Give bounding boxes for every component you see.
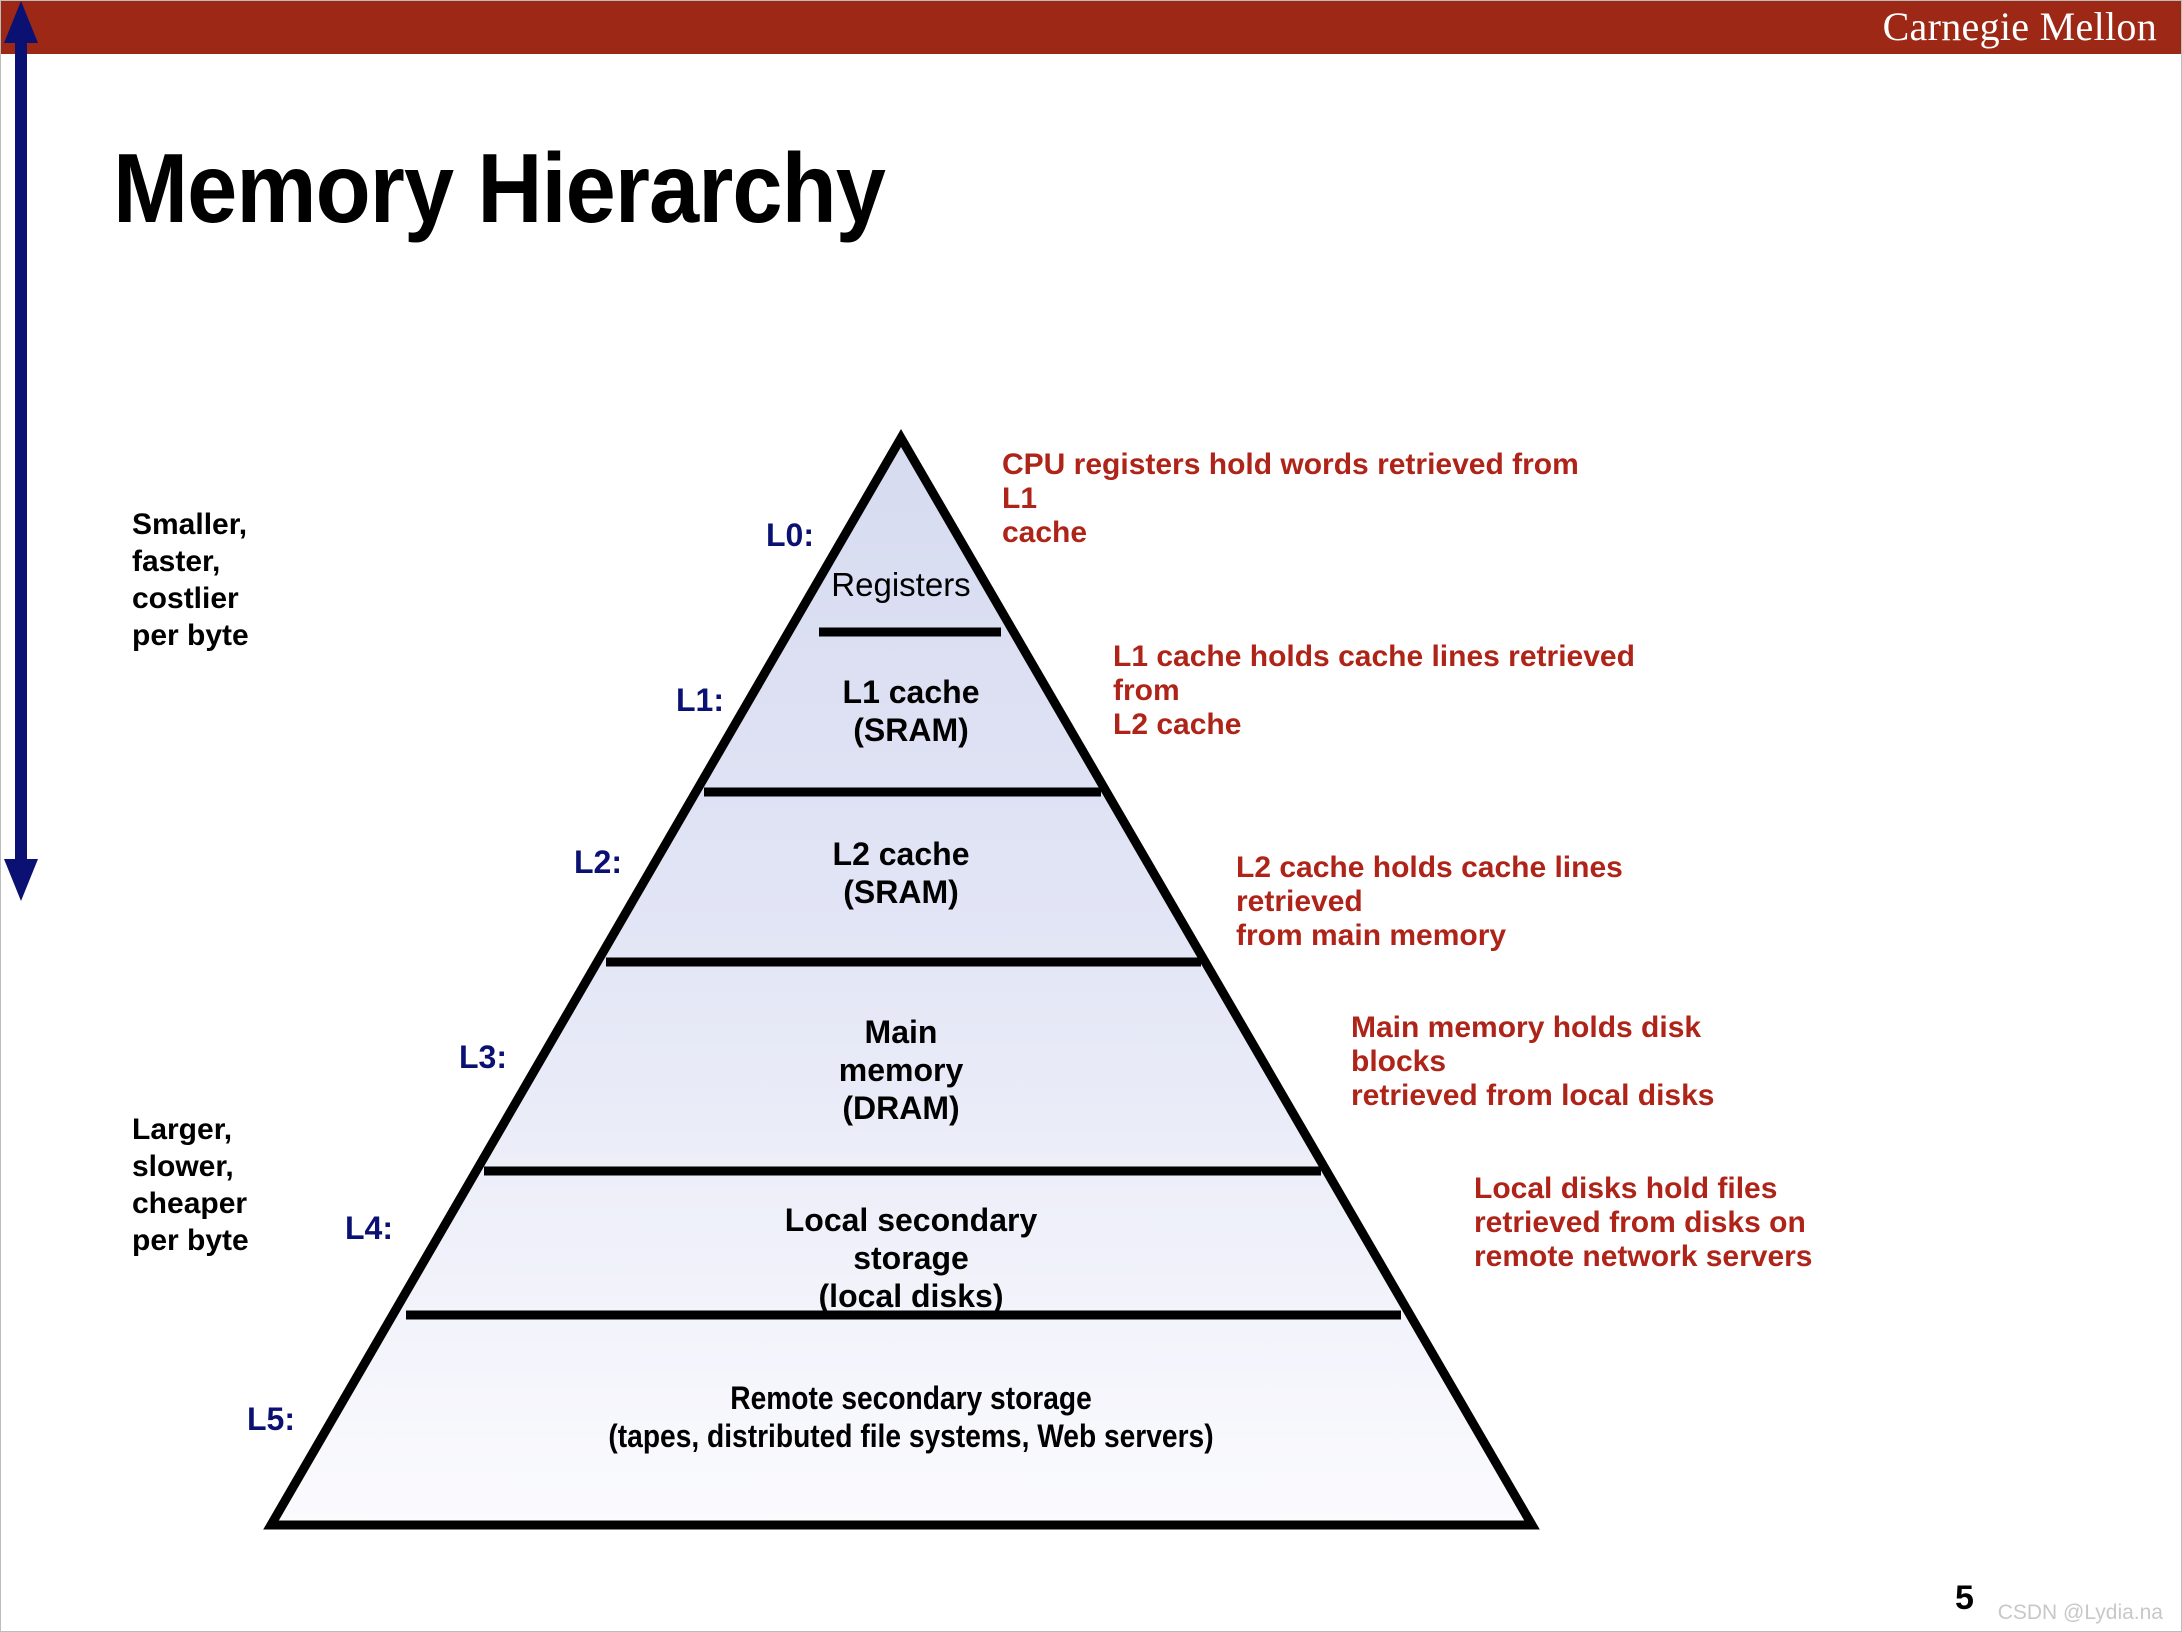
watermark: CSDN @Lydia.na [1998,1601,2163,1625]
arrow-up-glyph [1,1,41,441]
level-label-main-memory: Main memory (DRAM) [771,1013,1031,1127]
level-label-registers: Registers [771,566,1031,604]
level-marker-l2: L2: [574,844,622,880]
arrow-down-glyph [1,441,41,901]
caption-larger-slower: Larger, slower, cheaper per byte [132,1111,249,1259]
page-title: Memory Hierarchy [113,133,885,243]
level-marker-l0: L0: [766,517,814,553]
level-marker-l3: L3: [459,1039,507,1075]
annotation-l1-cache: L1 cache holds cache lines retrieved fro… [1113,640,1673,742]
level-label-l1-cache: L1 cache (SRAM) [781,673,1041,749]
level-label-local-secondary-storage: Local secondary storage (local disks) [761,1201,1061,1315]
level-label-remote-secondary-storage: Remote secondary storage (tapes, distrib… [603,1379,1219,1455]
carnegie-mellon-brand: Carnegie Mellon [1883,3,2157,51]
level-marker-l1: L1: [676,682,724,718]
top-banner: Carnegie Mellon [1,1,2182,54]
annotation-local-disks: Local disks hold files retrieved from di… [1474,1172,1814,1274]
level-marker-l4: L4: [345,1210,393,1246]
page-number: 5 [1955,1579,1974,1617]
level-marker-l5: L5: [247,1401,295,1437]
arrow-down-icon [1,441,41,901]
arrow-up-icon [1,1,41,441]
level-label-l2-cache: L2 cache (SRAM) [771,835,1031,911]
caption-smaller-faster: Smaller, faster, costlier per byte [132,506,249,654]
annotation-l2-cache: L2 cache holds cache lines retrieved fro… [1236,851,1736,953]
annotation-cpu-registers: CPU registers hold words retrieved from … [1002,448,1602,550]
slide-canvas: Carnegie Mellon Memory Hierarchy Smaller… [0,0,2182,1632]
annotation-main-memory: Main memory holds disk blocks retrieved … [1351,1011,1791,1113]
